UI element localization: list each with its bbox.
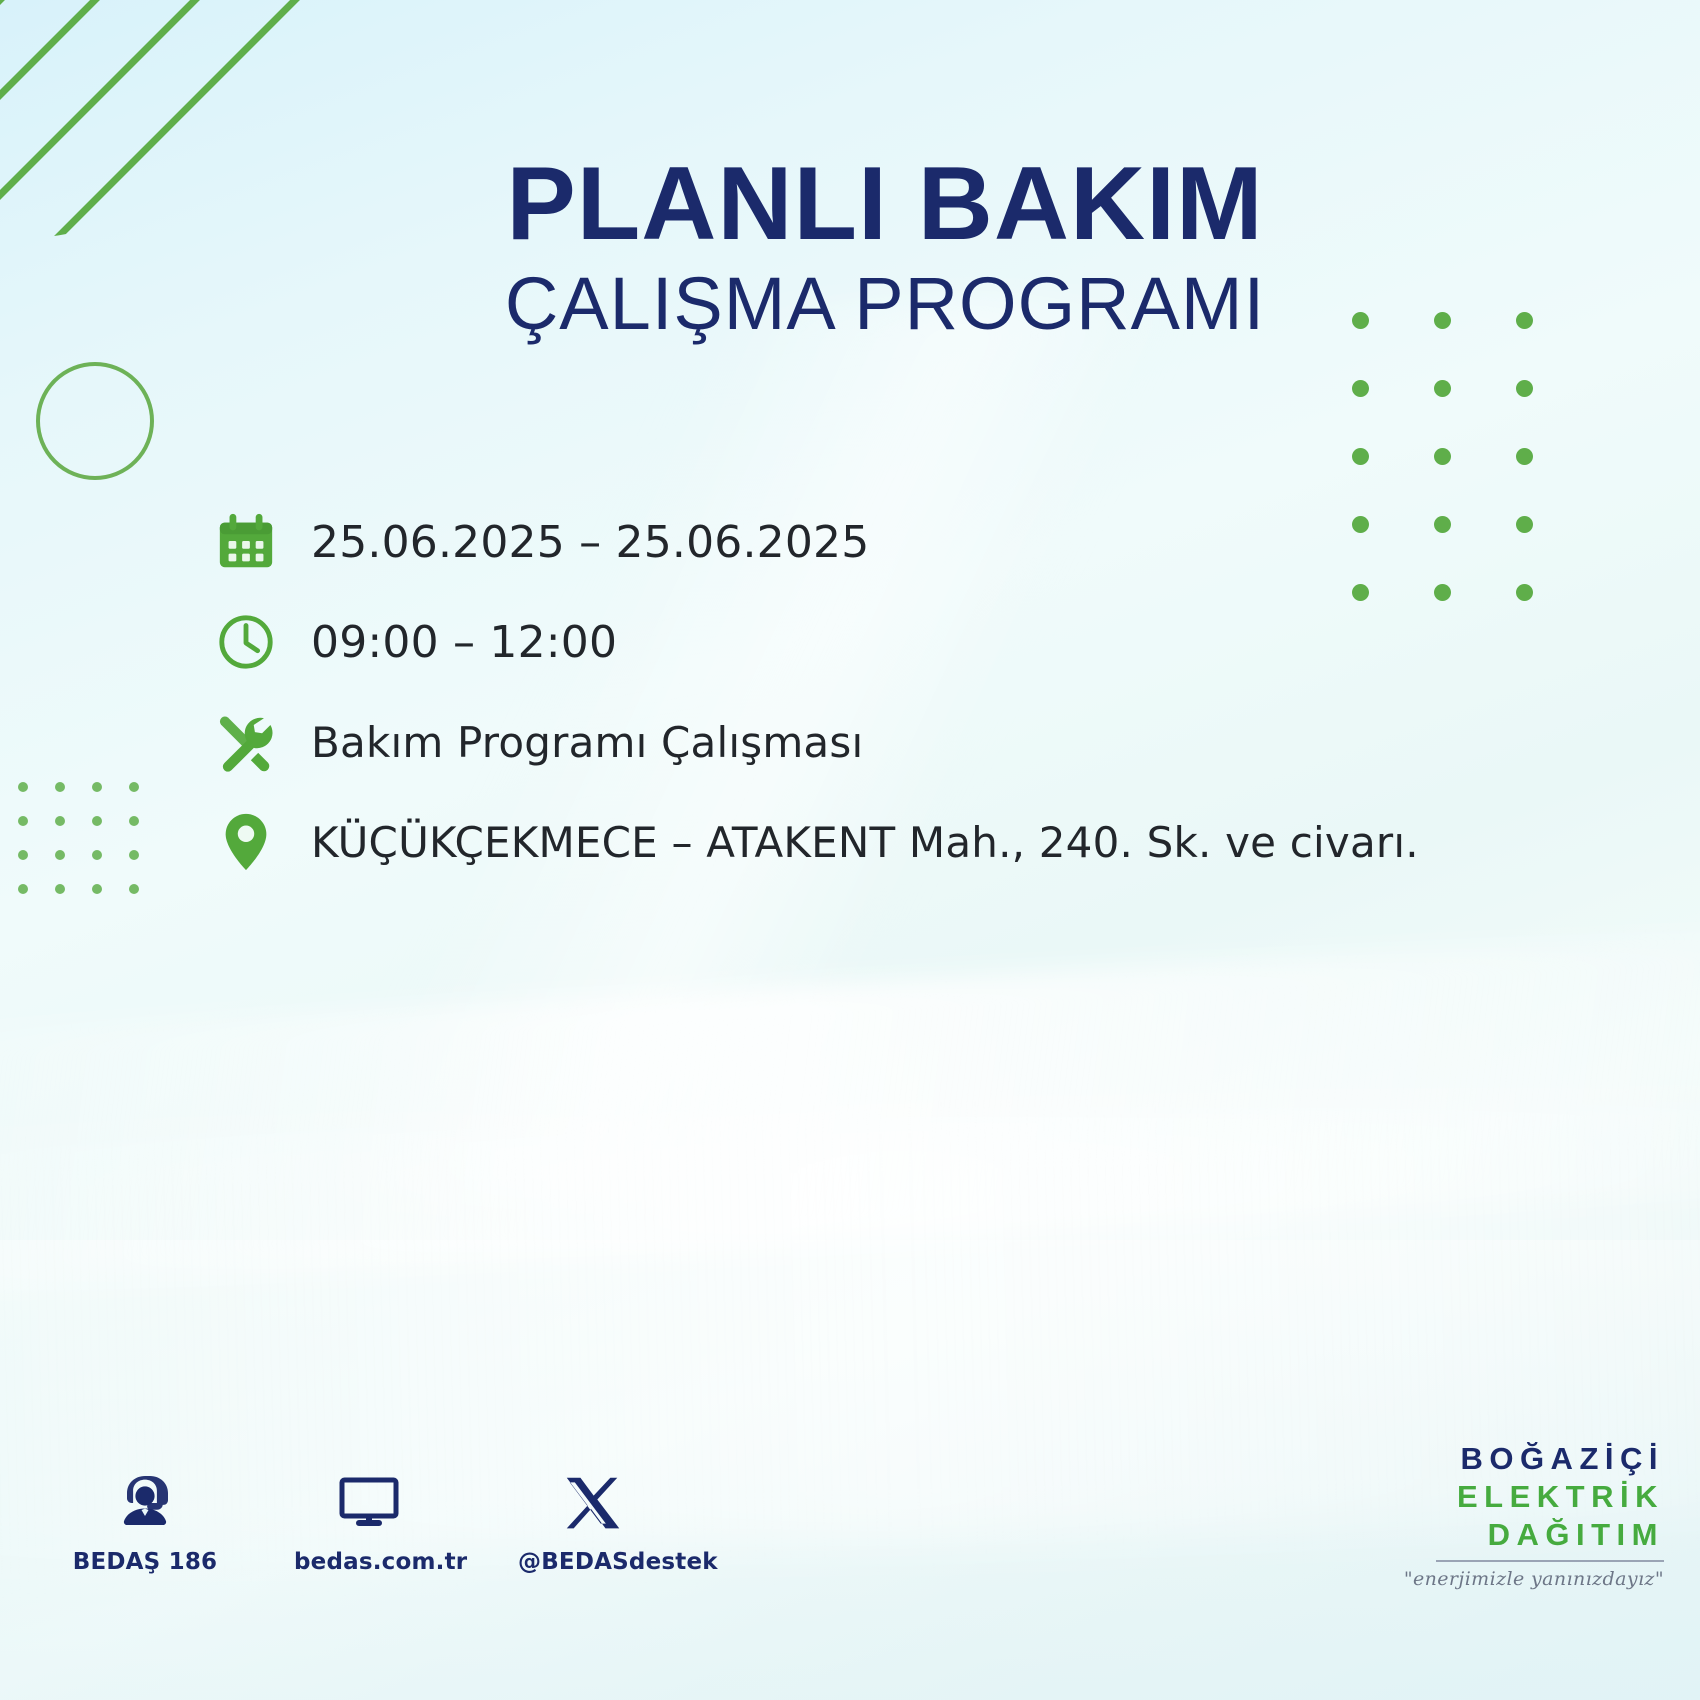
page-title: PLANLI BAKIM bbox=[0, 150, 1700, 259]
planned-maintenance-poster: PLANLI BAKIM ÇALIŞMA PROGRAMI bbox=[0, 0, 1700, 1700]
detail-row-work-type: Bakım Programı Çalışması bbox=[215, 692, 1635, 792]
footer-contact-links: BEDAŞ 186 bedas.com.tr @BEDASdestek bbox=[70, 1455, 668, 1575]
footer-link-call-center[interactable]: BEDAŞ 186 bbox=[70, 1455, 220, 1575]
detail-location-text: KÜÇÜKÇEKMECE – ATAKENT Mah., 240. Sk. ve… bbox=[311, 818, 1419, 867]
maintenance-details-list: 25.06.2025 – 25.06.2025 09:00 – 12:00 bbox=[215, 492, 1635, 892]
detail-row-date: 25.06.2025 – 25.06.2025 bbox=[215, 492, 1635, 592]
x-logo-icon bbox=[518, 1455, 668, 1533]
brand-line-dagitim: DAĞITIM bbox=[1404, 1516, 1664, 1554]
clock-icon bbox=[215, 611, 311, 673]
poster-title-block: PLANLI BAKIM ÇALIŞMA PROGRAMI bbox=[0, 150, 1700, 345]
detail-time-text: 09:00 – 12:00 bbox=[311, 617, 617, 668]
page-subtitle: ÇALIŞMA PROGRAMI bbox=[0, 263, 1700, 344]
footer-link-website[interactable]: bedas.com.tr bbox=[294, 1455, 444, 1575]
monitor-icon bbox=[294, 1455, 444, 1533]
brand-line-bogazici: BOĞAZİÇİ bbox=[1404, 1440, 1664, 1478]
footer-link-website-label: bedas.com.tr bbox=[294, 1549, 444, 1575]
brand-logo: BOĞAZİÇİ ELEKTRİK DAĞITIM "enerjimizle y… bbox=[1404, 1440, 1664, 1590]
footer-link-call-center-label: BEDAŞ 186 bbox=[70, 1549, 220, 1575]
detail-work-type-text: Bakım Programı Çalışması bbox=[311, 718, 863, 767]
circle-outline-decoration bbox=[36, 362, 154, 480]
support-agent-icon bbox=[70, 1455, 220, 1533]
footer-link-x-account[interactable]: @BEDASdestek bbox=[518, 1455, 668, 1575]
detail-date-text: 25.06.2025 – 25.06.2025 bbox=[311, 517, 869, 568]
brand-tagline: "enerjimizle yanınızdayız" bbox=[1404, 1568, 1664, 1590]
detail-row-time: 09:00 – 12:00 bbox=[215, 592, 1635, 692]
light-sheen-streak-1 bbox=[0, 919, 1700, 1301]
brand-divider bbox=[1436, 1560, 1664, 1562]
detail-row-location: KÜÇÜKÇEKMECE – ATAKENT Mah., 240. Sk. ve… bbox=[215, 792, 1635, 892]
footer-link-x-account-label: @BEDASdestek bbox=[518, 1549, 668, 1575]
brand-line-elektrik: ELEKTRİK bbox=[1404, 1478, 1664, 1516]
dot-grid-decoration-left bbox=[18, 782, 166, 918]
tools-icon bbox=[215, 711, 311, 773]
location-pin-icon bbox=[215, 811, 311, 873]
calendar-icon bbox=[215, 511, 311, 573]
